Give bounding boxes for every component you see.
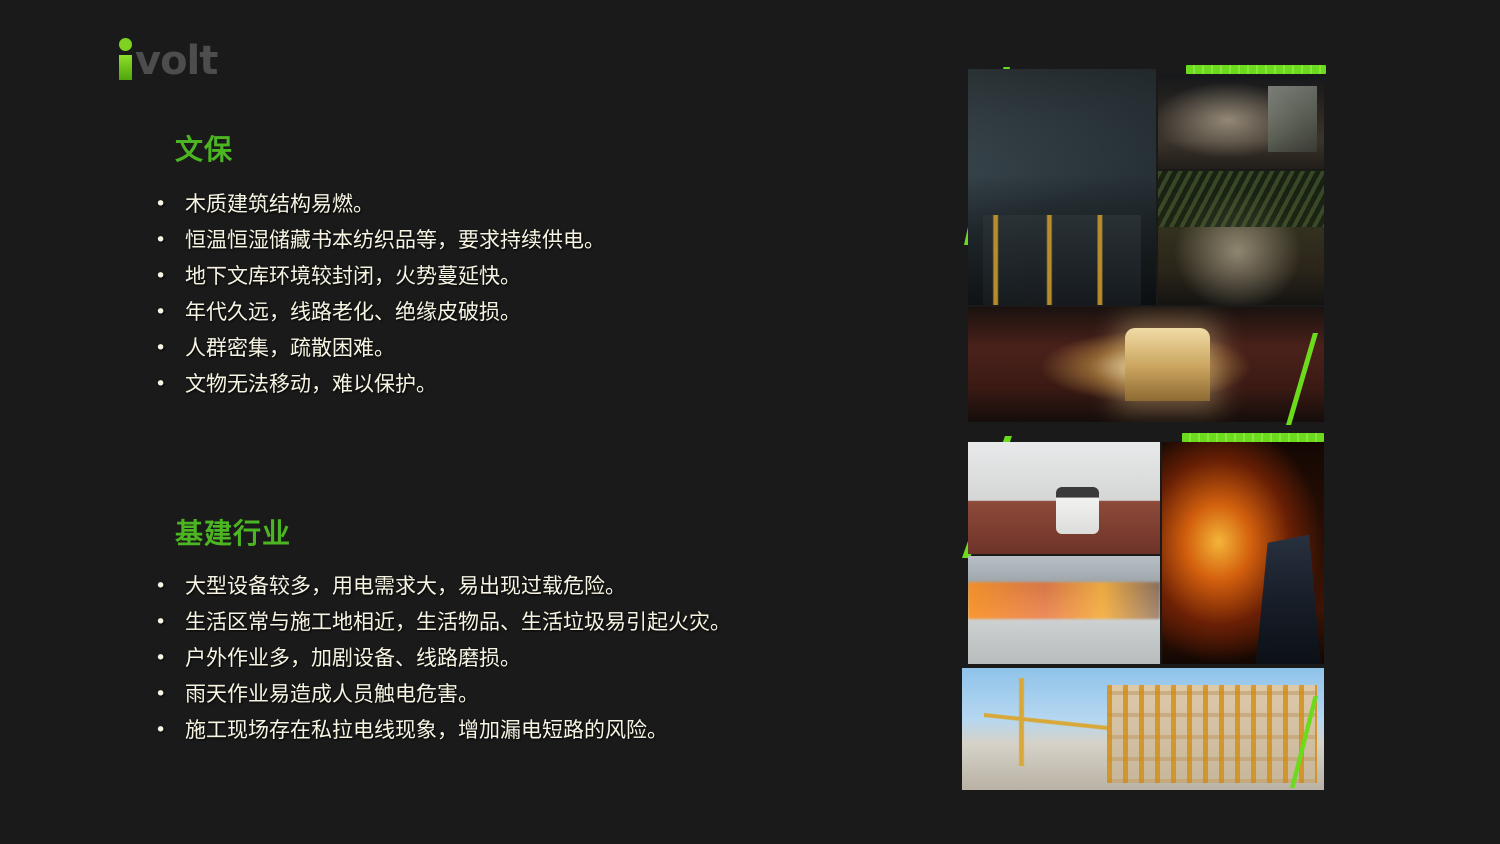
photo-museum-folk-scene <box>1158 171 1324 305</box>
bullet-text: 年代久远，线路老化、绝缘皮破损。 <box>185 294 521 330</box>
bullet-marker: • <box>155 222 185 258</box>
bullet-text: 施工现场存在私拉电线现象，增加漏电短路的风险。 <box>185 712 668 748</box>
list-item: • 大型设备较多，用电需求大，易出现过载危险。 <box>155 568 731 604</box>
list-item: • 生活区常与施工地相近，生活物品、生活垃圾易引起火灾。 <box>155 604 731 640</box>
bullet-text: 木质建筑结构易燃。 <box>185 186 374 222</box>
section-cultural-heritage: 文保 • 木质建筑结构易燃。 • 恒温恒湿储藏书本纺织品等，要求持续供电。 • … <box>175 128 605 402</box>
photo-museum-buddha-hall <box>968 307 1324 422</box>
photo-museum-furniture-hall <box>1158 75 1324 169</box>
section-title: 基建行业 <box>175 512 731 552</box>
bullet-marker: • <box>155 258 185 294</box>
photo-construction-site-cranes <box>962 668 1324 790</box>
photo-collage-infrastructure <box>950 428 1340 798</box>
photo-site-dormitory-fire <box>968 556 1160 664</box>
content-column: 文保 • 木质建筑结构易燃。 • 恒温恒湿储藏书本纺织品等，要求持续供电。 • … <box>0 0 940 844</box>
accent-bar-top-right <box>1186 65 1326 74</box>
bullet-marker: • <box>155 186 185 222</box>
slide: volt 文保 • 木质建筑结构易燃。 • 恒温恒湿储藏书本纺织品等，要求持续供… <box>0 0 1500 844</box>
bullet-text: 人群密集，疏散困难。 <box>185 330 395 366</box>
bullet-marker: • <box>155 640 185 676</box>
list-item: • 施工现场存在私拉电线现象，增加漏电短路的风险。 <box>155 712 731 748</box>
bullet-marker: • <box>155 330 185 366</box>
bullet-list: • 木质建筑结构易燃。 • 恒温恒湿储藏书本纺织品等，要求持续供电。 • 地下文… <box>175 186 605 402</box>
list-item: • 年代久远，线路老化、绝缘皮破损。 <box>155 294 605 330</box>
bullet-marker: • <box>155 676 185 712</box>
bullet-marker: • <box>155 568 185 604</box>
bullet-marker: • <box>155 294 185 330</box>
bullet-text: 恒温恒湿储藏书本纺织品等，要求持续供电。 <box>185 222 605 258</box>
list-item: • 木质建筑结构易燃。 <box>155 186 605 222</box>
bullet-text: 雨天作业易造成人员触电危害。 <box>185 676 479 712</box>
bullet-text: 大型设备较多，用电需求大，易出现过载危险。 <box>185 568 626 604</box>
section-infrastructure: 基建行业 • 大型设备较多，用电需求大，易出现过载危险。 • 生活区常与施工地相… <box>175 512 731 748</box>
list-item: • 恒温恒湿储藏书本纺织品等，要求持续供电。 <box>155 222 605 258</box>
bullet-text: 户外作业多，加剧设备、线路磨损。 <box>185 640 521 676</box>
section-title: 文保 <box>175 128 605 168</box>
list-item: • 人群密集，疏散困难。 <box>155 330 605 366</box>
accent-bar-top-right <box>1182 433 1324 442</box>
photo-temple-eave <box>968 69 1156 305</box>
bullet-marker: • <box>155 604 185 640</box>
photo-dorm-rice-cooker <box>968 442 1160 554</box>
bullet-text: 地下文库环境较封闭，火势蔓延快。 <box>185 258 521 294</box>
bullet-marker: • <box>155 366 185 402</box>
photo-collage-cultural-heritage <box>950 55 1340 430</box>
list-item: • 地下文库环境较封闭，火势蔓延快。 <box>155 258 605 294</box>
photo-firefighters-extinguishing <box>1162 442 1324 664</box>
bullet-text: 生活区常与施工地相近，生活物品、生活垃圾易引起火灾。 <box>185 604 731 640</box>
bullet-list: • 大型设备较多，用电需求大，易出现过载危险。 • 生活区常与施工地相近，生活物… <box>175 568 731 748</box>
list-item: • 文物无法移动，难以保护。 <box>155 366 605 402</box>
list-item: • 雨天作业易造成人员触电危害。 <box>155 676 731 712</box>
list-item: • 户外作业多，加剧设备、线路磨损。 <box>155 640 731 676</box>
bullet-marker: • <box>155 712 185 748</box>
bullet-text: 文物无法移动，难以保护。 <box>185 366 437 402</box>
